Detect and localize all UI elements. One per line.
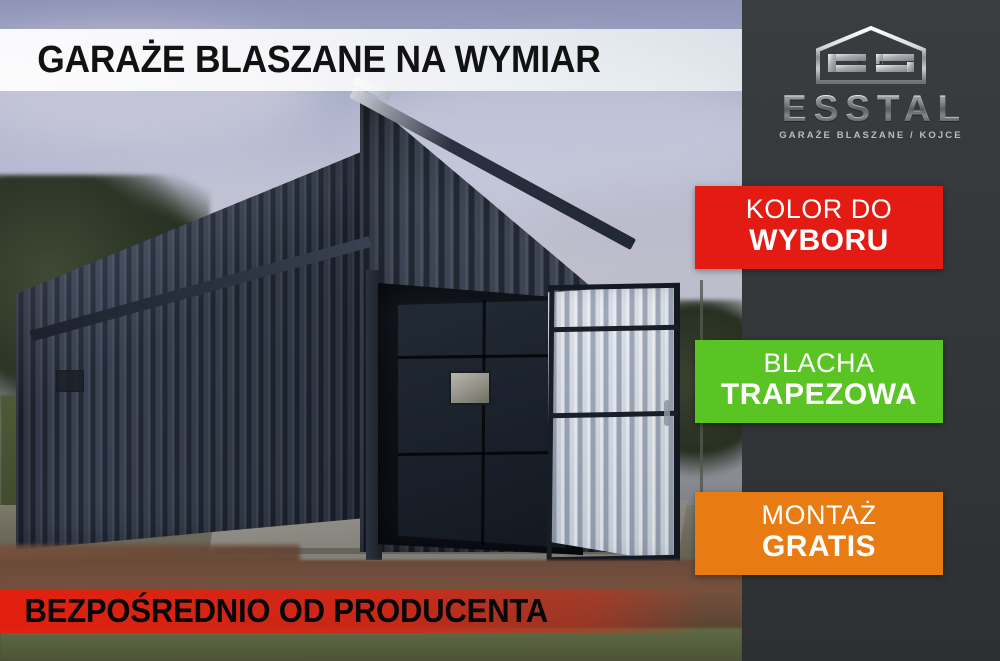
- footer-text: BEZPOŚREDNIO OD PRODUCENTA: [0, 589, 663, 633]
- badge-line-1: MONTAŻ: [695, 501, 943, 530]
- logo-tagline: GARAŻE BLASZANE / KOJCE: [742, 130, 1000, 141]
- garage-side-window: [56, 370, 84, 392]
- page-title: GARAŻE BLASZANE NA WYMIAR: [26, 29, 716, 91]
- badge-montaz-gratis[interactable]: MONTAŻ GRATIS: [695, 492, 943, 575]
- badge-line-2: GRATIS: [695, 530, 943, 564]
- garage-photo: [0, 0, 742, 661]
- badge-kolor-do-wyboru[interactable]: KOLOR DO WYBORU: [695, 186, 943, 269]
- advertisement-banner: ESSTAL GARAŻE BLASZANE / KOJCE KOLOR DO …: [0, 0, 1000, 661]
- badge-line-2: WYBORU: [695, 224, 943, 258]
- garage-interior-window: [449, 371, 491, 405]
- badge-line-1: BLACHA: [695, 349, 943, 378]
- es-monogram-icon: [812, 24, 930, 86]
- company-logo: ESSTAL GARAŻE BLASZANE / KOJCE: [742, 24, 1000, 154]
- badge-blacha-trapezowa[interactable]: BLACHA TRAPEZOWA: [695, 340, 943, 423]
- garage-side-wall: [16, 150, 366, 550]
- logo-wordmark: ESSTAL: [742, 90, 1000, 127]
- badge-line-1: KOLOR DO: [695, 195, 943, 224]
- badge-line-2: TRAPEZOWA: [695, 378, 943, 412]
- door-handle: [664, 400, 670, 426]
